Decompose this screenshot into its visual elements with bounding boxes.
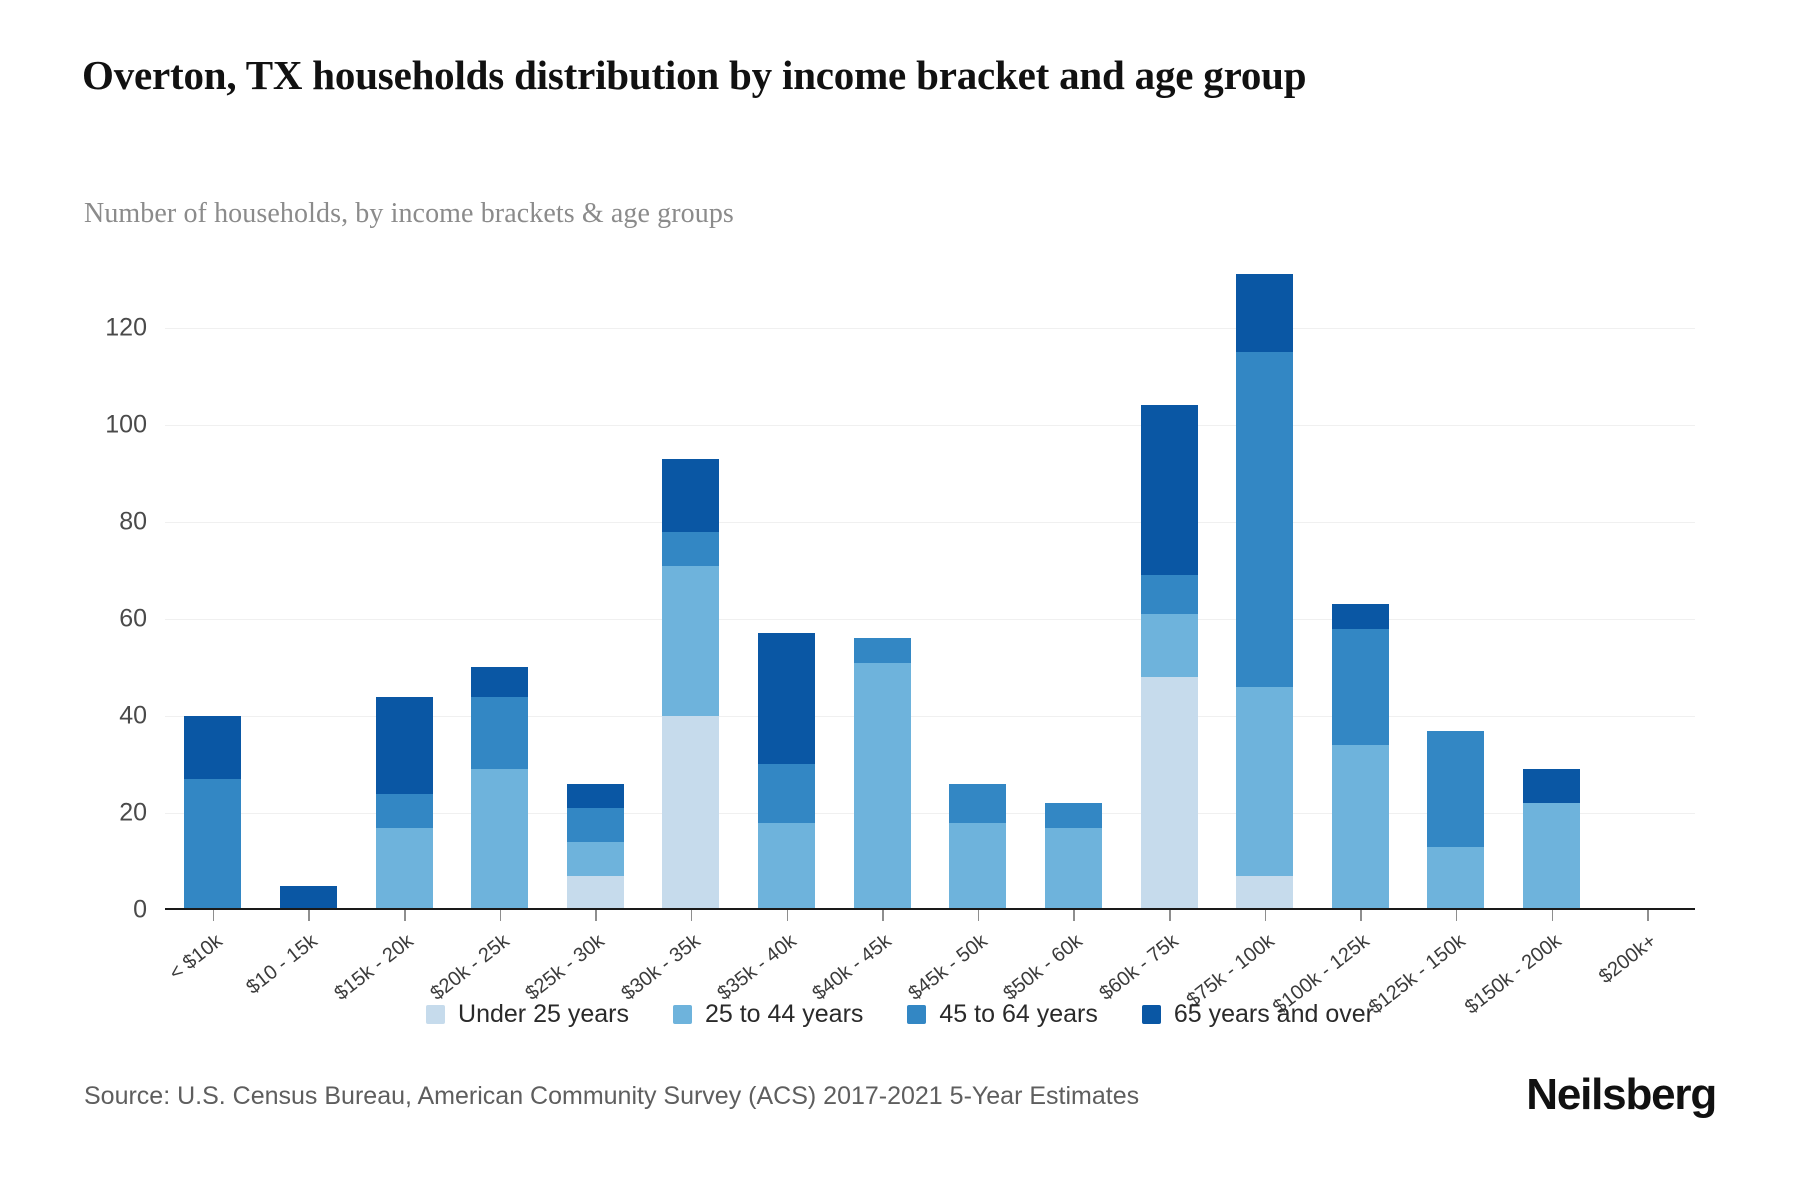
- bar-segment[interactable]: [1045, 828, 1102, 910]
- source-note: Source: U.S. Census Bureau, American Com…: [84, 1082, 1139, 1111]
- bar-slot[interactable]: $25k - 30k: [548, 255, 644, 910]
- bar-segment[interactable]: [1236, 876, 1293, 910]
- bar-slot[interactable]: $75k - 100k: [1217, 255, 1313, 910]
- bar-segment[interactable]: [758, 764, 815, 822]
- page-subtitle: Number of households, by income brackets…: [84, 198, 734, 230]
- bar-segment[interactable]: [471, 697, 528, 770]
- bar-slot[interactable]: $150k - 200k: [1504, 255, 1600, 910]
- bar-segment[interactable]: [1332, 745, 1389, 910]
- bar-segment[interactable]: [567, 784, 624, 808]
- legend-swatch-icon: [673, 1005, 692, 1024]
- brand-logo: Neilsberg: [1526, 1070, 1716, 1120]
- bar-slot[interactable]: $10 - 15k: [261, 255, 357, 910]
- x-axis-tick: [404, 910, 406, 921]
- x-axis-tick-label: < $10k: [165, 930, 227, 985]
- y-axis-tick-label: 80: [119, 507, 147, 536]
- bar-segment[interactable]: [1523, 803, 1580, 910]
- gridline: [165, 910, 1695, 911]
- bar-slot[interactable]: < $10k: [165, 255, 261, 910]
- bar-segment[interactable]: [184, 779, 241, 910]
- y-axis-tick-label: 60: [119, 604, 147, 633]
- x-axis-tick: [1360, 910, 1362, 921]
- chart-legend: Under 25 years25 to 44 years45 to 64 yea…: [0, 1000, 1800, 1029]
- stacked-bar[interactable]: [184, 716, 241, 910]
- bar-group: < $10k$10 - 15k$15k - 20k$20k - 25k$25k …: [165, 255, 1695, 910]
- bar-slot[interactable]: $15k - 20k: [356, 255, 452, 910]
- stacked-bar[interactable]: [1427, 731, 1484, 911]
- x-axis-tick: [1552, 910, 1554, 921]
- bar-segment[interactable]: [376, 697, 433, 794]
- legend-item[interactable]: Under 25 years: [426, 1000, 629, 1029]
- bar-segment[interactable]: [376, 794, 433, 828]
- bar-segment[interactable]: [1332, 604, 1389, 628]
- x-axis-tick: [595, 910, 597, 921]
- bar-segment[interactable]: [471, 769, 528, 910]
- bar-segment[interactable]: [949, 784, 1006, 823]
- bar-segment[interactable]: [1427, 731, 1484, 847]
- legend-item[interactable]: 25 to 44 years: [673, 1000, 863, 1029]
- x-axis-line: [165, 908, 1695, 910]
- legend-label: 25 to 44 years: [705, 1000, 863, 1029]
- stacked-bar[interactable]: [471, 667, 528, 910]
- stacked-bar[interactable]: [567, 784, 624, 910]
- bar-segment[interactable]: [1427, 847, 1484, 910]
- stacked-bar[interactable]: [949, 784, 1006, 910]
- bar-segment[interactable]: [1141, 405, 1198, 575]
- bar-segment[interactable]: [376, 828, 433, 910]
- bar-segment[interactable]: [854, 663, 911, 910]
- page-title: Overton, TX households distribution by i…: [82, 48, 1602, 102]
- bar-slot[interactable]: $200k+: [1599, 255, 1695, 910]
- bar-segment[interactable]: [1141, 614, 1198, 677]
- bar-segment[interactable]: [567, 842, 624, 876]
- plot-area: 020406080100120 < $10k$10 - 15k$15k - 20…: [165, 255, 1695, 910]
- x-axis-tick: [787, 910, 789, 921]
- bar-segment[interactable]: [854, 638, 911, 662]
- bar-segment[interactable]: [1236, 352, 1293, 687]
- bar-segment[interactable]: [184, 716, 241, 779]
- x-axis-tick: [1647, 910, 1649, 921]
- bar-segment[interactable]: [662, 532, 719, 566]
- x-axis-tick: [691, 910, 693, 921]
- stacked-bar[interactable]: [758, 633, 815, 910]
- x-axis-tick-label: $45k - 50k: [904, 930, 992, 1006]
- x-axis-tick: [500, 910, 502, 921]
- x-axis-tick: [1073, 910, 1075, 921]
- x-axis-tick-label: $30k - 35k: [617, 930, 705, 1006]
- x-axis-tick-label: $15k - 20k: [330, 930, 418, 1006]
- x-axis-tick-label: $20k - 25k: [426, 930, 514, 1006]
- bar-slot[interactable]: $45k - 50k: [930, 255, 1026, 910]
- x-axis-tick: [882, 910, 884, 921]
- y-axis-tick-label: 0: [133, 896, 147, 925]
- bar-slot[interactable]: $40k - 45k: [834, 255, 930, 910]
- chart-page: Overton, TX households distribution by i…: [0, 0, 1800, 1200]
- bar-segment[interactable]: [471, 667, 528, 696]
- stacked-bar[interactable]: [280, 886, 337, 910]
- bar-slot[interactable]: $100k - 125k: [1313, 255, 1409, 910]
- x-axis-tick-label: $40k - 45k: [809, 930, 897, 1006]
- bar-segment[interactable]: [1141, 575, 1198, 614]
- bar-slot[interactable]: $30k - 35k: [643, 255, 739, 910]
- x-axis-tick: [1456, 910, 1458, 921]
- x-axis-tick-label: $10 - 15k: [243, 930, 323, 999]
- legend-label: 65 years and over: [1174, 1000, 1374, 1029]
- bar-segment[interactable]: [949, 823, 1006, 910]
- bar-segment[interactable]: [567, 876, 624, 910]
- x-axis-tick-label: $50k - 60k: [1000, 930, 1088, 1006]
- x-axis-tick-label: $60k - 75k: [1095, 930, 1183, 1006]
- y-axis-tick-label: 40: [119, 701, 147, 730]
- bar-segment[interactable]: [758, 823, 815, 910]
- legend-swatch-icon: [907, 1005, 926, 1024]
- stacked-bar[interactable]: [854, 638, 911, 910]
- stacked-bar[interactable]: [662, 459, 719, 910]
- bar-slot[interactable]: $125k - 150k: [1408, 255, 1504, 910]
- stacked-bar[interactable]: [1141, 405, 1198, 910]
- stacked-bar[interactable]: [1236, 274, 1293, 910]
- stacked-bar[interactable]: [1523, 769, 1580, 910]
- bar-slot[interactable]: $20k - 25k: [452, 255, 548, 910]
- y-axis-tick-label: 100: [105, 410, 147, 439]
- y-axis-tick-label: 120: [105, 313, 147, 342]
- bar-slot[interactable]: $50k - 60k: [1026, 255, 1122, 910]
- bar-slot[interactable]: $35k - 40k: [739, 255, 835, 910]
- x-axis-tick-label: $200k+: [1595, 930, 1661, 989]
- legend-item[interactable]: 45 to 64 years: [907, 1000, 1097, 1029]
- x-axis-tick: [1169, 910, 1171, 921]
- bar-segment[interactable]: [1332, 629, 1389, 745]
- bar-segment[interactable]: [1141, 677, 1198, 910]
- bar-segment[interactable]: [662, 459, 719, 532]
- bar-segment[interactable]: [662, 716, 719, 910]
- stacked-bar[interactable]: [376, 697, 433, 910]
- x-axis-tick: [978, 910, 980, 921]
- y-axis-tick-label: 20: [119, 798, 147, 827]
- legend-swatch-icon: [426, 1005, 445, 1024]
- bar-segment[interactable]: [280, 886, 337, 910]
- bar-segment[interactable]: [1236, 274, 1293, 352]
- bar-segment[interactable]: [662, 566, 719, 716]
- x-axis-tick: [213, 910, 215, 921]
- stacked-bar[interactable]: [1045, 803, 1102, 910]
- x-axis-tick: [308, 910, 310, 921]
- x-axis-tick-label: $35k - 40k: [713, 930, 801, 1006]
- legend-label: 45 to 64 years: [939, 1000, 1097, 1029]
- bar-segment[interactable]: [567, 808, 624, 842]
- bar-slot[interactable]: $60k - 75k: [1121, 255, 1217, 910]
- bar-segment[interactable]: [1523, 769, 1580, 803]
- legend-item[interactable]: 65 years and over: [1142, 1000, 1374, 1029]
- stacked-bar[interactable]: [1332, 604, 1389, 910]
- bar-segment[interactable]: [758, 633, 815, 764]
- bar-segment[interactable]: [1236, 687, 1293, 876]
- legend-label: Under 25 years: [458, 1000, 629, 1029]
- x-axis-tick-label: $25k - 30k: [522, 930, 610, 1006]
- x-axis-tick: [1265, 910, 1267, 921]
- legend-swatch-icon: [1142, 1005, 1161, 1024]
- bar-segment[interactable]: [1045, 803, 1102, 827]
